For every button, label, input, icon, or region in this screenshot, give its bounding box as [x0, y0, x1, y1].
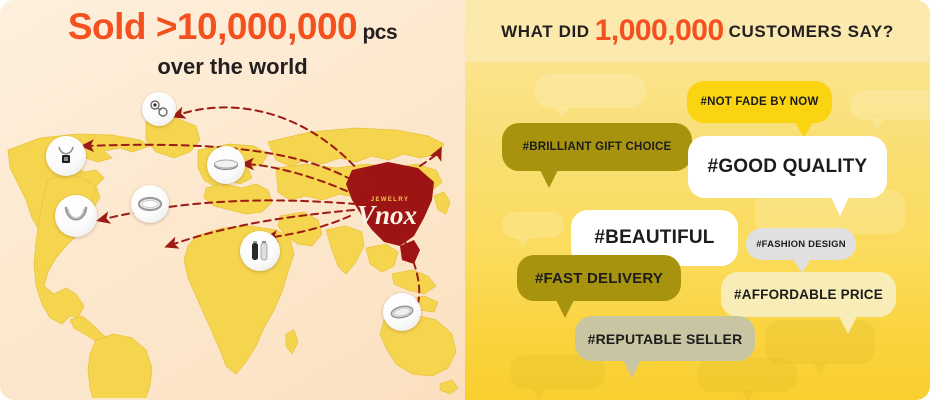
- earrings-icon: [142, 92, 176, 126]
- hashtag-bubble-tail: [839, 316, 857, 334]
- ring-set-icon: [240, 231, 280, 271]
- hashtag-bubble-cloud: #NOT FADE BY NOW#BRILLIANT GIFT CHOICE#G…: [465, 62, 930, 400]
- svg-text:Vnox: Vnox: [357, 200, 417, 230]
- bracelet-icon: [131, 185, 169, 223]
- ghost-bubble: [850, 90, 930, 120]
- pendant-necklace-icon: [46, 136, 86, 176]
- hashtag-bubble-tail: [540, 170, 558, 188]
- hashtag-bubble[interactable]: #NOT FADE BY NOW: [687, 81, 832, 123]
- hashtag-bubble[interactable]: #BRILLIANT GIFT CHOICE: [502, 123, 692, 171]
- hashtag-bubble[interactable]: #FASHION DESIGN: [746, 228, 856, 260]
- sold-count: >10,000,000: [156, 6, 357, 47]
- hashtag-bubble-label: #BRILLIANT GIFT CHOICE: [523, 141, 672, 153]
- world-map: JEWELRY Vnox: [0, 88, 465, 398]
- ghost-bubble-tail: [813, 363, 827, 374]
- left-headline-block: Sold >10,000,000 pcs over the world: [0, 8, 465, 80]
- ghost-bubble: [697, 358, 797, 392]
- hashtag-bubble-label: #REPUTABLE SELLER: [588, 331, 743, 347]
- chain-necklace-icon: [55, 195, 97, 237]
- mens-ring-icon: [383, 293, 421, 331]
- sold-prefix: Sold: [68, 6, 156, 47]
- hashtag-bubble-tail: [623, 360, 641, 378]
- hashtag-bubble-tail: [831, 197, 849, 216]
- ghost-bubble-tail: [870, 119, 884, 130]
- hashtag-bubble[interactable]: #AFFORDABLE PRICE: [721, 272, 896, 317]
- promo-banner: Sold >10,000,000 pcs over the world: [0, 0, 930, 400]
- ghost-bubble: [502, 212, 564, 238]
- ghost-bubble-tail: [516, 237, 530, 248]
- hashtag-bubble-tail: [793, 259, 811, 273]
- hashtag-bubble[interactable]: #FAST DELIVERY: [517, 255, 681, 301]
- header-suffix: CUSTOMERS SAY?: [729, 22, 894, 41]
- hashtag-bubble-label: #NOT FADE BY NOW: [701, 96, 819, 108]
- hashtag-bubble[interactable]: #REPUTABLE SELLER: [575, 316, 755, 361]
- hashtag-bubble-label: #BEAUTIFUL: [594, 227, 714, 249]
- hashtag-bubble-label: #GOOD QUALITY: [708, 156, 868, 178]
- ghost-bubble-tail: [555, 107, 569, 118]
- hashtag-bubble-tail: [556, 300, 574, 318]
- world-map-panel: Sold >10,000,000 pcs over the world: [0, 0, 465, 400]
- hashtag-bubble-label: #FAST DELIVERY: [535, 270, 663, 287]
- sold-unit: pcs: [357, 21, 397, 44]
- reviews-header-text: WHAT DID1,000,000CUSTOMERS SAY?: [501, 14, 894, 48]
- header-prefix: WHAT DID: [501, 22, 590, 41]
- reviews-header: WHAT DID1,000,000CUSTOMERS SAY?: [465, 0, 930, 62]
- customer-reviews-panel: WHAT DID1,000,000CUSTOMERS SAY? #NOT FAD…: [465, 0, 930, 400]
- ghost-bubble-tail: [532, 388, 546, 399]
- sold-headline: Sold >10,000,000 pcs: [0, 8, 465, 45]
- bangle-icon: [207, 146, 245, 184]
- vnox-logo: JEWELRY Vnox: [357, 197, 417, 230]
- ghost-bubble-tail: [741, 391, 755, 400]
- header-customer-count: 1,000,000: [595, 14, 724, 47]
- sold-subheadline: over the world: [0, 54, 465, 80]
- hashtag-bubble-label: #AFFORDABLE PRICE: [734, 287, 883, 302]
- world-map-svg: JEWELRY Vnox: [0, 88, 465, 398]
- hashtag-bubble[interactable]: #GOOD QUALITY: [688, 136, 887, 198]
- hashtag-bubble-label: #FASHION DESIGN: [756, 239, 846, 250]
- ghost-bubble: [535, 74, 645, 108]
